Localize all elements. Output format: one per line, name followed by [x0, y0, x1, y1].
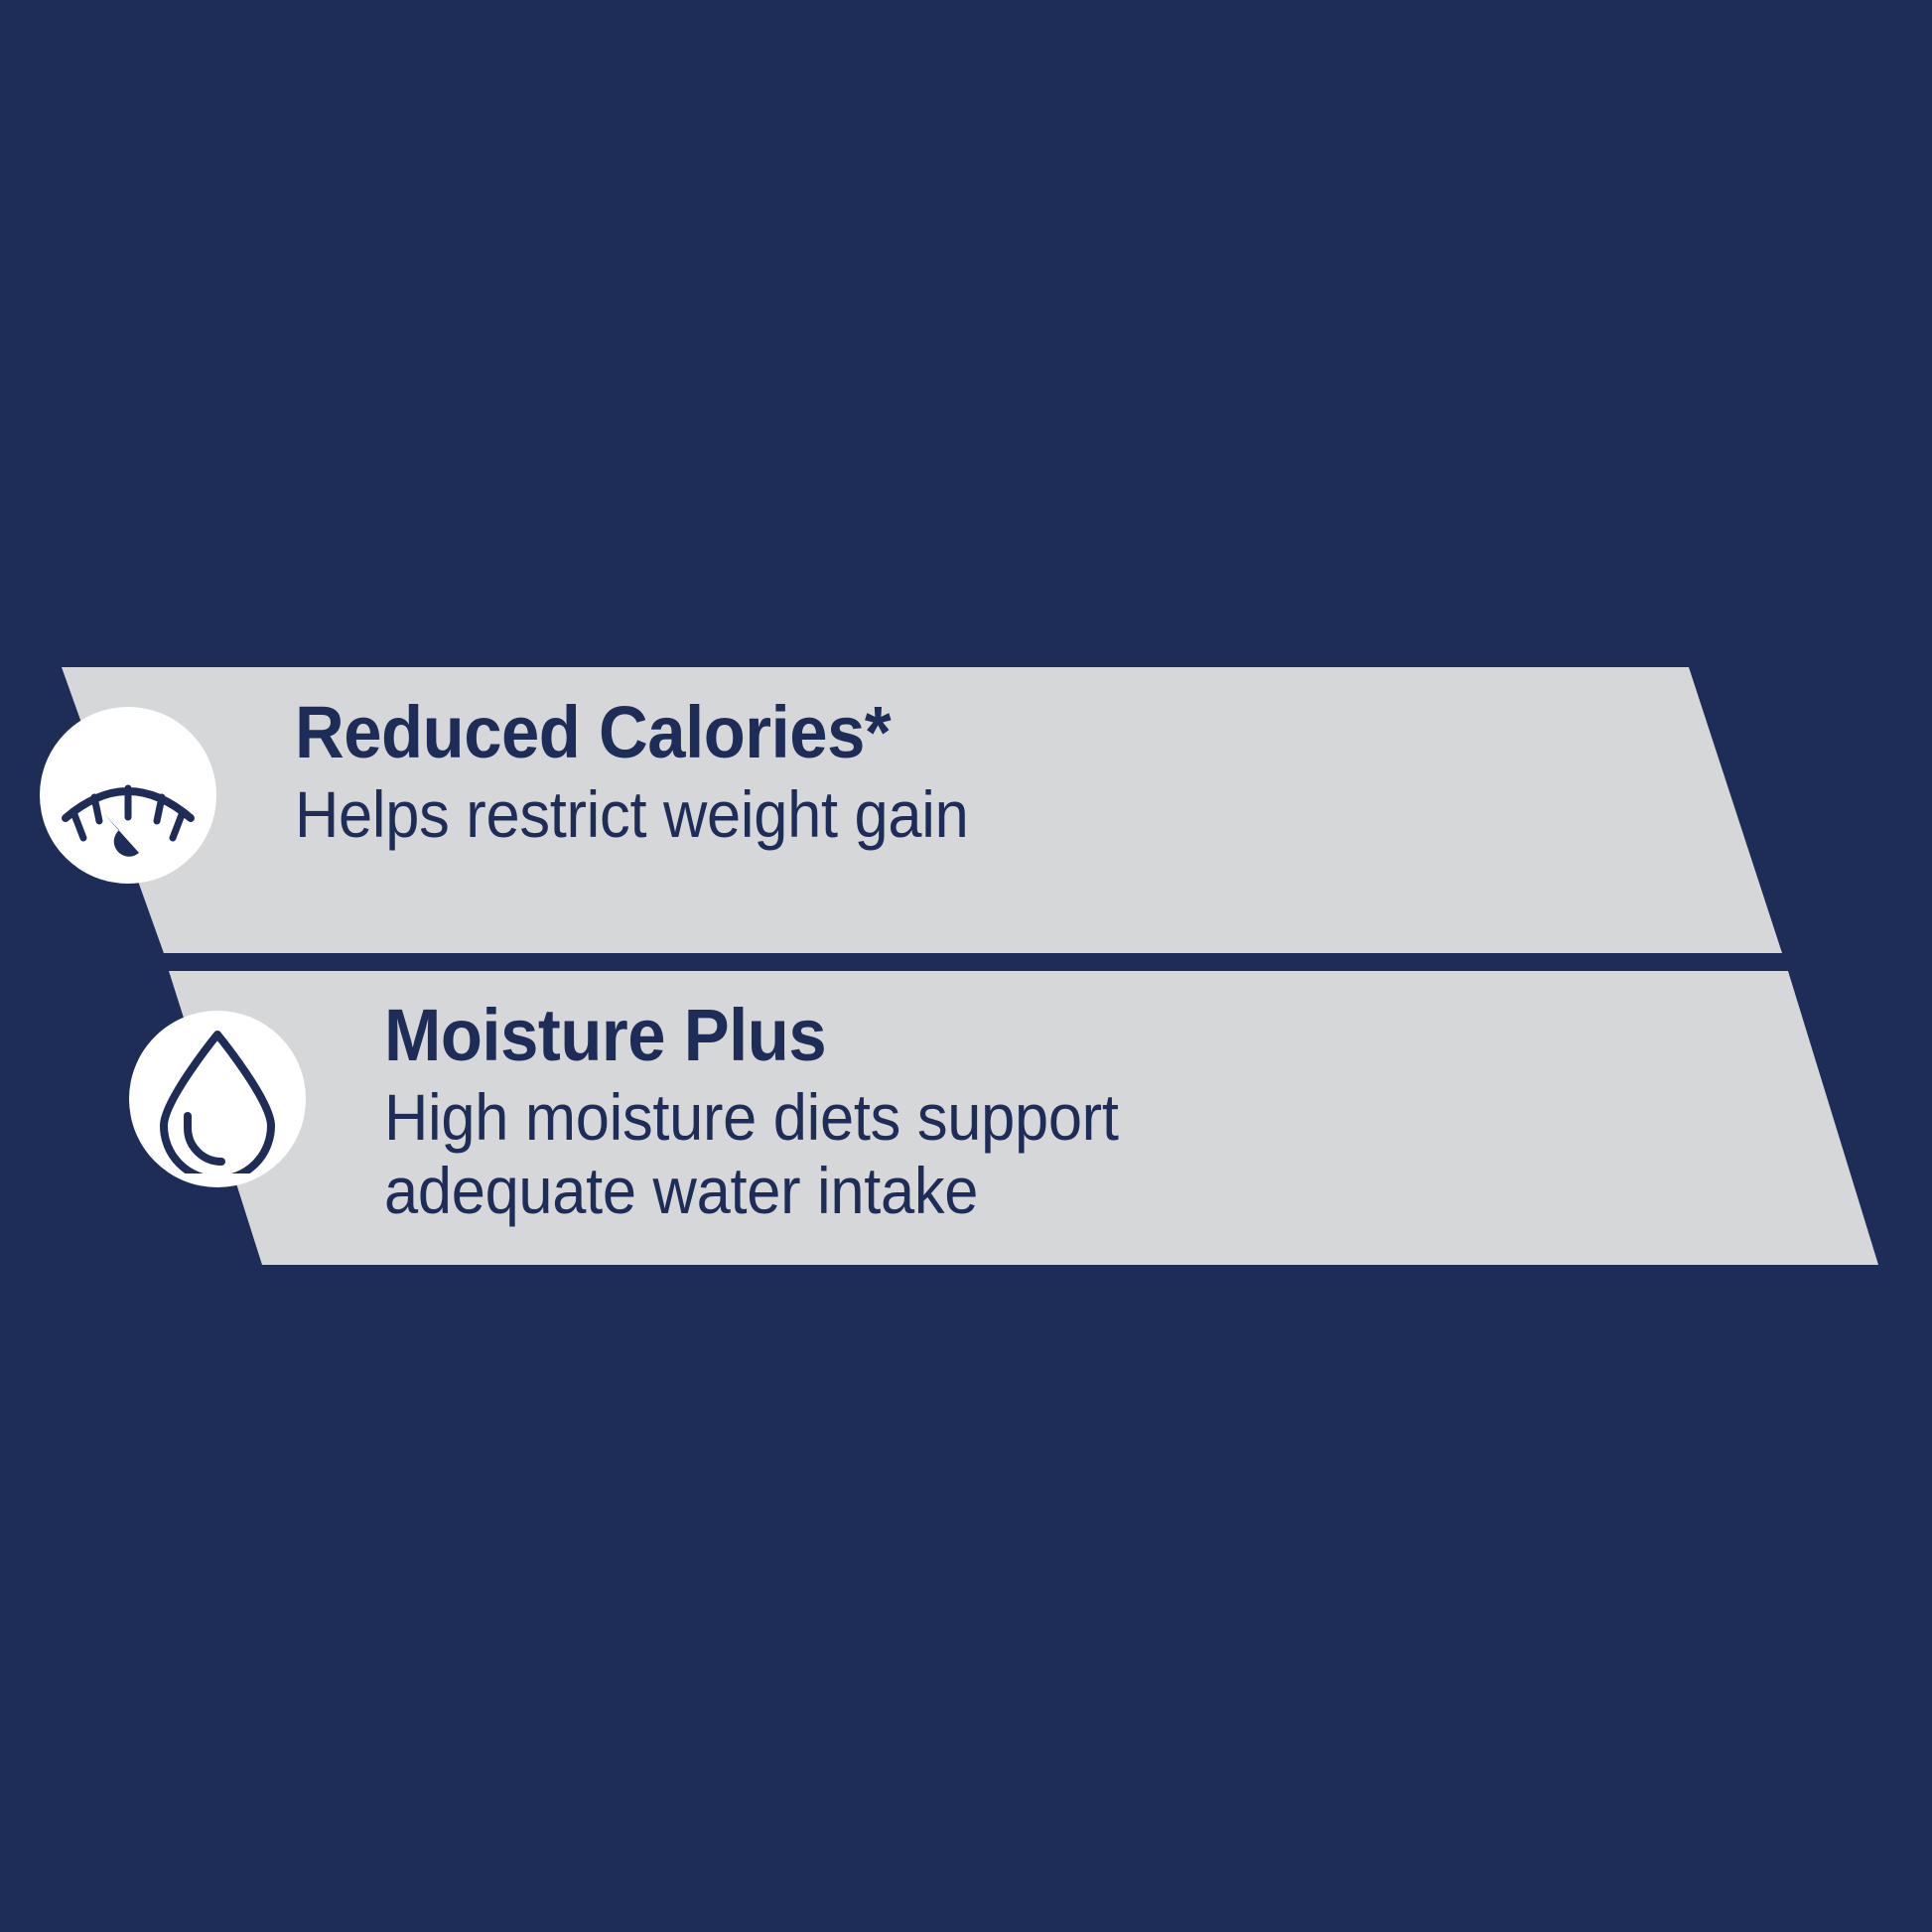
- water-drop-icon: [150, 1025, 285, 1173]
- feature-subtitle-reduced-calories: Helps restrict weight gain: [295, 778, 968, 852]
- feature-text-reduced-calories: Reduced Calories* Helps restrict weight …: [295, 695, 1020, 852]
- icon-disc-reduced-calories: [40, 707, 216, 884]
- weight-scale-gauge-icon: [54, 721, 203, 870]
- feature-subtitle-moisture-plus: High moisture diets support adequate wat…: [384, 1081, 1119, 1228]
- feature-text-moisture-plus: Moisture Plus High moisture diets suppor…: [384, 998, 1173, 1228]
- icon-disc-moisture-plus: [129, 1011, 306, 1187]
- feature-title-reduced-calories: Reduced Calories*: [295, 695, 968, 770]
- band-divider: [132, 953, 1790, 972]
- product-benefits-panel: Reduced Calories* Helps restrict weight …: [0, 0, 1932, 1932]
- feature-title-moisture-plus: Moisture Plus: [384, 998, 1119, 1073]
